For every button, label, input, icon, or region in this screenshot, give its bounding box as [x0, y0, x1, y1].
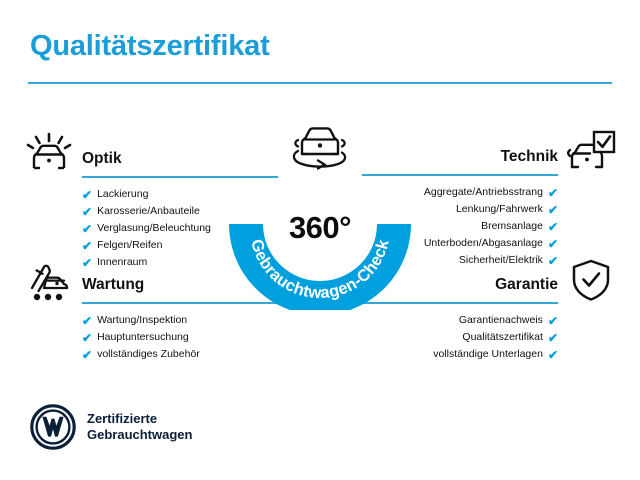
section-wartung: Wartung ✔Wartung/Inspektion ✔Hauptunters… — [24, 258, 256, 363]
list-item-label: Verglasung/Beleuchtung — [97, 220, 211, 237]
section-title-technik: Technik — [501, 148, 558, 166]
footer-text: Zertifizierte Gebrauchtwagen — [87, 411, 192, 443]
check-icon: ✔ — [548, 204, 558, 216]
car-rotation-icon — [284, 118, 356, 174]
footer-line-2: Gebrauchtwagen — [87, 427, 192, 443]
section-garantie: Garantie ✔Garantienachweis ✔Qualitätszer… — [384, 258, 616, 363]
check-icon: ✔ — [82, 315, 92, 327]
badge-360-gebrauchtwagen-check: Gebrauchtwagen-Check — [228, 118, 412, 310]
list-item-label: Felgen/Reifen — [97, 237, 162, 254]
certificate-page: Qualitätszertifikat — [0, 0, 640, 480]
section-header-garantie: Garantie — [384, 258, 616, 304]
list-item-label: vollständige Unterlagen — [433, 346, 543, 363]
check-icon: ✔ — [82, 223, 92, 235]
section-title-wartung: Wartung — [82, 276, 144, 294]
check-icon: ✔ — [548, 315, 558, 327]
check-icon: ✔ — [82, 349, 92, 361]
list-item: ✔Garantienachweis — [384, 312, 558, 329]
check-icon: ✔ — [548, 349, 558, 361]
check-icon: ✔ — [548, 332, 558, 344]
check-icon: ✔ — [82, 240, 92, 252]
check-list-garantie: ✔Garantienachweis ✔Qualitätszertifikat ✔… — [384, 304, 616, 363]
check-icon: ✔ — [82, 206, 92, 218]
footer-brand: Zertifizierte Gebrauchtwagen — [30, 404, 192, 450]
list-item: ✔vollständiges Zubehör — [82, 346, 256, 363]
check-icon: ✔ — [548, 221, 558, 233]
list-item-label: Garantienachweis — [459, 312, 543, 329]
section-header-optik: Optik — [24, 132, 256, 178]
wrench-car-icon — [24, 258, 74, 302]
title-divider — [28, 82, 612, 84]
section-technik: Technik ✔Aggregate/Antriebsstrang ✔Lenku… — [384, 130, 616, 269]
car-checkbox-icon — [566, 130, 616, 174]
list-item: ✔Wartung/Inspektion — [82, 312, 256, 329]
list-item-label: vollständiges Zubehör — [97, 346, 200, 363]
shield-check-icon — [566, 258, 616, 302]
page-title: Qualitätszertifikat — [30, 30, 270, 63]
vw-roundel-icon — [30, 404, 76, 450]
list-item: ✔Qualitätszertifikat — [384, 329, 558, 346]
list-item-label: Lenkung/Fahrwerk — [456, 201, 543, 218]
check-list-technik: ✔Aggregate/Antriebsstrang ✔Lenkung/Fahrw… — [384, 176, 616, 269]
list-item-label: Lackierung — [97, 186, 148, 203]
car-shine-icon — [24, 132, 74, 176]
badge-degrees-value: 360° — [228, 210, 412, 246]
list-item-label: Unterboden/Abgasanlage — [424, 235, 543, 252]
section-title-optik: Optik — [82, 150, 122, 168]
check-icon: ✔ — [548, 187, 558, 199]
list-item: ✔Hauptuntersuchung — [82, 329, 256, 346]
section-optik: Optik ✔Lackierung ✔Karosserie/Anbauteile… — [24, 132, 256, 271]
list-item-label: Qualitätszertifikat — [462, 329, 543, 346]
check-icon: ✔ — [82, 332, 92, 344]
list-item: ✔vollständige Unterlagen — [384, 346, 558, 363]
list-item-label: Wartung/Inspektion — [97, 312, 187, 329]
check-icon: ✔ — [82, 189, 92, 201]
section-title-garantie: Garantie — [495, 276, 558, 294]
list-item-label: Bremsanlage — [481, 218, 543, 235]
list-item-label: Aggregate/Antriebsstrang — [424, 184, 543, 201]
section-header-wartung: Wartung — [24, 258, 256, 304]
section-header-technik: Technik — [384, 130, 616, 176]
footer-line-1: Zertifizierte — [87, 411, 192, 427]
list-item-label: Hauptuntersuchung — [97, 329, 189, 346]
list-item-label: Karosserie/Anbauteile — [97, 203, 200, 220]
check-icon: ✔ — [548, 238, 558, 250]
check-list-wartung: ✔Wartung/Inspektion ✔Hauptuntersuchung ✔… — [24, 304, 256, 363]
